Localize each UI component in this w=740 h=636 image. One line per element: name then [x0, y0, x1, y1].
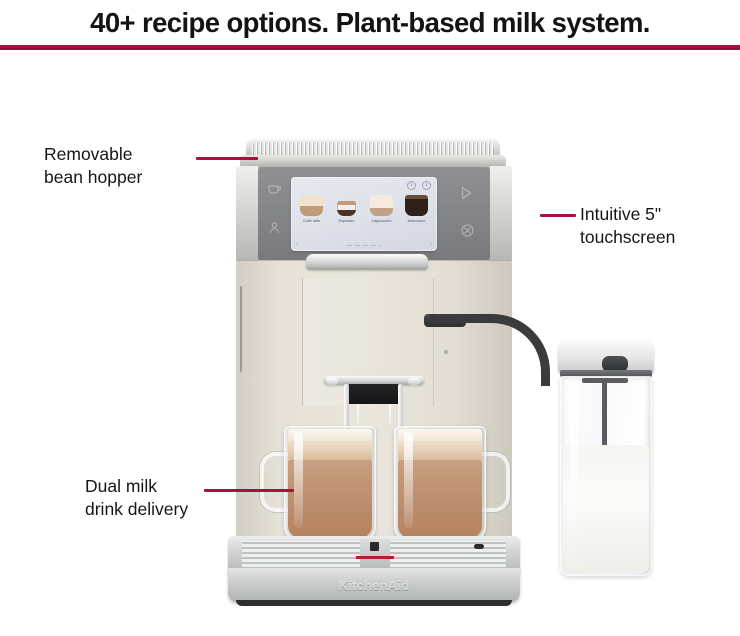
play-icon[interactable] [460, 186, 473, 200]
milk-carafe[interactable] [558, 340, 654, 578]
callout-line-1: Dual milk [85, 475, 188, 498]
glass-body [394, 426, 486, 542]
stop-icon[interactable] [461, 224, 474, 237]
drink-label: Cappuccino [372, 219, 392, 223]
tray-level-indicator [356, 556, 394, 559]
glass-body [284, 426, 376, 542]
drink-option[interactable]: Caffe latte [296, 191, 327, 223]
bezel-left [236, 166, 258, 262]
carafe-probe [602, 378, 607, 452]
drink-option[interactable]: Americano [401, 191, 432, 223]
drink-option[interactable]: Espresso [331, 191, 362, 223]
drink-label: Espresso [339, 219, 355, 223]
machine-base: KitchenAid [228, 568, 520, 602]
drink-label: Americano [407, 219, 425, 223]
glass-highlight [294, 432, 303, 528]
callout-line-2: drink delivery [85, 498, 188, 521]
base-foot [236, 600, 512, 606]
dual-dispense-spout[interactable] [348, 384, 400, 404]
screen-status-icons [407, 181, 431, 190]
tray-sensor [370, 542, 379, 551]
touchscreen[interactable]: Caffe latte Espresso [291, 177, 437, 251]
cup-icon[interactable] [268, 184, 281, 195]
spout-cap-left [326, 378, 338, 385]
brand-wordmark: KitchenAid [228, 578, 520, 593]
page-title: 40+ recipe options. Plant-based milk sys… [0, 0, 740, 45]
carafe-highlight [570, 382, 578, 562]
glass-highlight [404, 432, 413, 528]
drink-cup-icon [298, 191, 325, 217]
drink-cup-icon [333, 191, 360, 217]
leader-line-bean-hopper [196, 157, 258, 160]
drink-option[interactable]: Cappuccino [366, 191, 397, 223]
callout-line-2: touchscreen [580, 226, 675, 249]
callout-line-2: bean hopper [44, 166, 142, 189]
screen-page-dots [347, 245, 381, 247]
control-panel: Caffe latte Espresso [258, 166, 490, 262]
latte-glass-left [284, 426, 376, 542]
coffee-machine: Caffe latte Espresso [218, 138, 528, 608]
spout-cap-right [408, 378, 420, 385]
timer-icon[interactable] [407, 181, 416, 190]
product-infographic: 40+ recipe options. Plant-based milk sys… [0, 0, 740, 636]
pour-stream-left [357, 404, 359, 426]
callout-touchscreen: Intuitive 5" touchscreen [580, 203, 675, 249]
brew-unit-door[interactable] [306, 254, 428, 270]
bezel-right [490, 166, 512, 262]
leader-line-milk-delivery [204, 489, 294, 492]
gear-icon[interactable] [422, 181, 431, 190]
drink-list: Caffe latte Espresso [296, 191, 432, 223]
callout-bean-hopper: Removable bean hopper [44, 143, 142, 189]
prev-arrow[interactable]: ‹ [296, 242, 298, 248]
tray-clip [474, 544, 484, 549]
leader-line-touchscreen [540, 214, 576, 217]
pour-stream-right [389, 404, 391, 426]
drink-label: Caffe latte [303, 219, 320, 223]
user-icon[interactable] [269, 222, 280, 234]
callout-line-1: Removable [44, 143, 142, 166]
latte-glass-right [394, 426, 486, 542]
next-arrow[interactable]: › [430, 242, 432, 248]
carafe-body [560, 376, 652, 576]
side-vent [240, 286, 242, 372]
drink-cup-icon [403, 191, 430, 217]
accent-divider [0, 45, 740, 50]
callout-milk-delivery: Dual milk drink delivery [85, 475, 188, 521]
drink-cup-icon [368, 191, 395, 217]
callout-line-1: Intuitive 5" [580, 203, 675, 226]
milk-tube [430, 314, 550, 386]
